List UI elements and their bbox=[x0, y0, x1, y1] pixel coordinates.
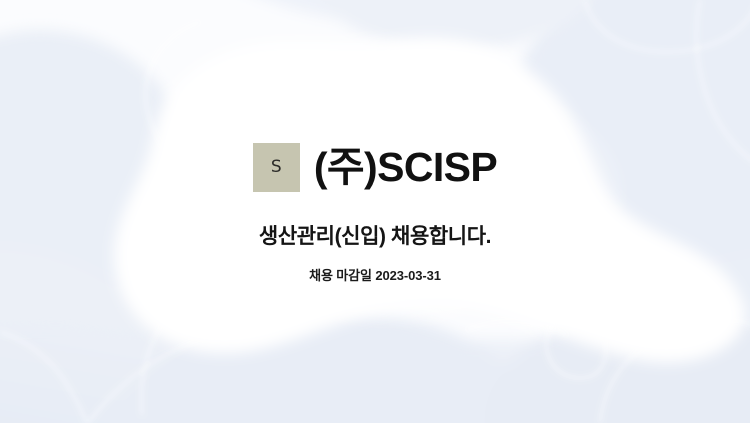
job-posting-poster: S (주)SCISP 생산관리(신입) 채용합니다. 채용 마감일 2023-0… bbox=[0, 0, 750, 423]
company-logo-letter: S bbox=[271, 159, 282, 176]
posting-headline: 생산관리(신입) 채용합니다. bbox=[259, 224, 491, 249]
brand-row: S (주)SCISP bbox=[253, 138, 497, 196]
company-name: (주)SCISP bbox=[314, 147, 497, 188]
poster-content: S (주)SCISP 생산관리(신입) 채용합니다. 채용 마감일 2023-0… bbox=[0, 0, 750, 423]
company-logo: S bbox=[253, 143, 300, 192]
posting-deadline: 채용 마감일 2023-03-31 bbox=[309, 268, 441, 284]
